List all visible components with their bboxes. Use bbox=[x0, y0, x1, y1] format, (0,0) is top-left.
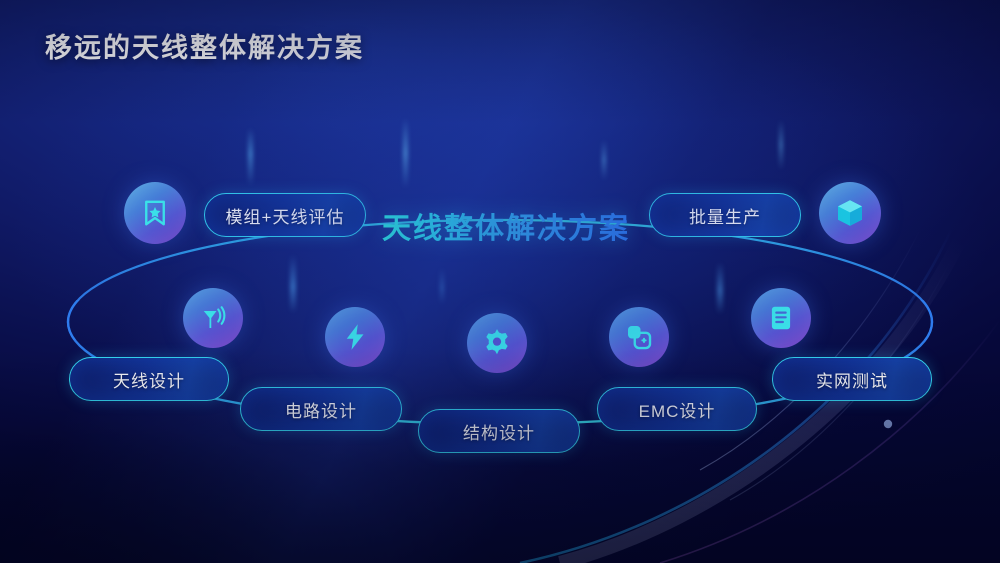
pill-circuit-design-label: 电路设计 bbox=[285, 397, 357, 422]
pill-structure-design[interactable]: 结构设计 bbox=[418, 409, 580, 453]
pill-emc-design[interactable]: EMC设计 bbox=[597, 387, 757, 431]
pill-field-test[interactable]: 实网测试 bbox=[772, 357, 932, 401]
slide-canvas: 模组+天线评估 天线整体解决方案 批量生产 bbox=[0, 0, 1000, 563]
pill-antenna-design[interactable]: 天线设计 bbox=[69, 357, 229, 401]
pill-emc-design-label: EMC设计 bbox=[639, 397, 716, 422]
pill-antenna-design-label: 天线设计 bbox=[113, 367, 185, 392]
pill-structure-design-label: 结构设计 bbox=[463, 419, 535, 444]
page-title: 移远的天线整体解决方案 bbox=[45, 26, 364, 65]
pill-circuit-design[interactable]: 电路设计 bbox=[240, 387, 402, 431]
pill-field-test-label: 实网测试 bbox=[816, 367, 888, 392]
orbit-ellipse-front bbox=[0, 0, 1000, 563]
